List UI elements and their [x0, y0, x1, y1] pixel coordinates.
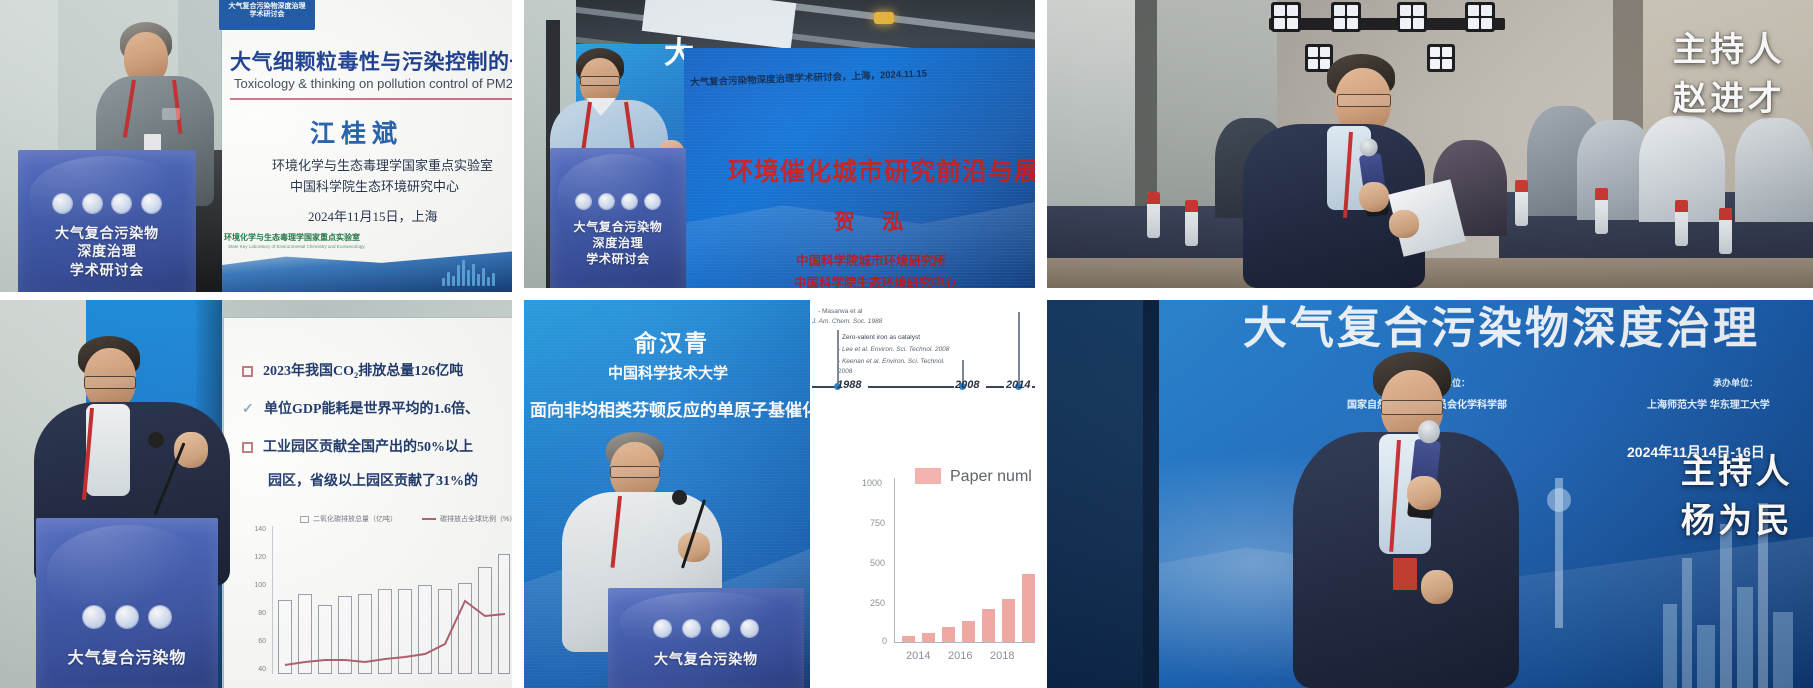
slide-affiliation-1: 环境化学与生态毒理学国家重点实验室: [272, 155, 493, 174]
projection-slide-1: 大气复合污染物深度治理 学术研讨会 大气细颗粒毒性与污染控制的一些思考 Toxi…: [222, 0, 512, 292]
emblem-icon: [83, 194, 102, 213]
chart-x-axis: [894, 642, 1035, 643]
water-bottle: [1147, 192, 1160, 238]
hand-holding-mic: [1359, 182, 1389, 212]
chart-plot-area: [896, 478, 1035, 642]
bottle-cap: [1595, 188, 1608, 200]
projection-slide-4: 2023年我国CO₂排放总量126亿吨 ✓单位GDP能耗是世界平均的1.6倍、 …: [224, 318, 512, 688]
emblem-icon: [142, 194, 161, 213]
chart-legend-bar: 二氧化碳排放总量（亿吨）: [300, 514, 397, 524]
slide-footer-cn: 环境化学与生态毒理学国家重点实验室: [224, 232, 360, 243]
chart-y-axis: [894, 478, 895, 642]
slide-affiliation-2: 中国科学院生态环境研究中心: [290, 176, 459, 195]
emblem-icon: [645, 194, 660, 209]
timeline-axis-2: [868, 386, 954, 388]
timeline-ref-2-line-3: 2008: [838, 368, 852, 375]
slide-footer-en: State Key Laboratory of Environmental Ch…: [228, 244, 365, 249]
chart-bar: [942, 627, 955, 642]
podium-line-1: 大气复合污染物: [36, 648, 218, 669]
caption-line-2: 赵进才: [1673, 75, 1785, 124]
emblem-icon: [83, 606, 105, 628]
x-tick-2018: 2018: [990, 650, 1014, 662]
chart-bar: [902, 636, 915, 642]
caption-line-1: 主持人: [1681, 448, 1793, 497]
glasses-icon: [1381, 400, 1443, 415]
podium-emblems: [550, 194, 686, 209]
emblem-icon: [654, 620, 671, 637]
timeline-axis-4: [1032, 386, 1035, 388]
podium-text: 大气复合污染物: [36, 648, 218, 669]
slide-title-cn: 环境催化城市研究前沿与展望: [728, 152, 1035, 188]
backdrop-host: 上海师范大学 华东理工大学: [1647, 396, 1770, 411]
caption-line-2: 杨为民: [1681, 497, 1793, 546]
photo-tile-3: 主持人 赵进才: [1047, 0, 1813, 288]
timeline-ref-2-line-1: - Lee et al. Environ. Sci. Technol. 2008: [838, 346, 949, 353]
slide-bullet-2: ✓单位GDP能耗是世界平均的1.6倍、: [242, 398, 479, 418]
chart-bar: [982, 609, 995, 642]
water-bottle: [1515, 180, 1528, 226]
legend-swatch-bar: [300, 516, 309, 523]
y-tick-250: 250: [870, 598, 885, 608]
slide-title-cn: 面向非均相类芬顿反应的单原子基催化剂: [530, 396, 810, 421]
bullet-text: 工业园区贡献全国产出的50%以上: [263, 440, 473, 455]
legend-label-line: 碳排放占全球比例（%）: [440, 516, 512, 523]
timeline-year-1988: 1988: [837, 379, 861, 391]
bullet-text: 单位GDP能耗是世界平均的1.6倍、: [264, 402, 479, 417]
slide-bullet-1: 2023年我国CO₂排放总量126亿吨: [242, 360, 463, 380]
microphone-head-icon: [672, 490, 687, 505]
photo-tile-2: 大 大气复合污染物深度治理学术研讨会，上海，2024.11.15 环境催化城市研…: [524, 0, 1035, 288]
y-tick-500: 500: [870, 558, 885, 568]
podium-text: 大气复合污染物: [608, 650, 804, 668]
photo-tile-7: 大气复合污染物深度治理 主办单位： 国家自然科学基金委员会化学科学部 承办单位：…: [1047, 300, 1813, 688]
y-tick: 40: [246, 666, 266, 673]
slide-speaker-name: 俞汉青: [634, 324, 709, 358]
timeline-axis-3: [986, 386, 1004, 388]
glasses-icon: [1337, 94, 1391, 107]
photo-tile-4: 2023年我国CO₂排放总量126亿吨 ✓单位GDP能耗是世界平均的1.6倍、 …: [0, 300, 512, 688]
podium-line-2: 深度治理: [550, 236, 686, 252]
glasses-icon: [580, 76, 620, 86]
ceiling-spotlight: [874, 12, 894, 24]
slide-bullet-3: 工业园区贡献全国产出的50%以上: [242, 436, 473, 456]
timeline-stem: [1018, 312, 1020, 384]
slide-affiliation-1: 中国科学院城市环境研究所: [796, 250, 946, 269]
x-tick-2016: 2016: [948, 650, 972, 662]
y-tick: 120: [246, 554, 266, 561]
hand-holding-mic: [1407, 476, 1441, 510]
podium-4: 大气复合污染物: [36, 518, 218, 688]
chart-line-series: [274, 526, 510, 674]
water-bottle: [1595, 188, 1608, 234]
bottle-cap: [1185, 200, 1198, 212]
y-tick: 60: [246, 638, 266, 645]
y-tick-1000: 1000: [862, 478, 882, 488]
chart-bar: [1022, 574, 1035, 642]
podium-line-1: 大气复合污染物: [18, 224, 196, 242]
glasses-icon: [84, 376, 136, 389]
lower-hand: [1421, 570, 1453, 604]
chart-plot-area: [274, 526, 510, 674]
emblem-icon: [683, 620, 700, 637]
podium-5: 大气复合污染物: [608, 588, 804, 688]
slide-title-en: Toxicology & thinking on pollution contr…: [234, 76, 512, 91]
emblem-icon: [112, 194, 131, 213]
chart-bar: [1002, 599, 1015, 642]
emblem-icon: [622, 194, 637, 209]
emblem-icon: [149, 606, 171, 628]
bottle-cap: [1719, 208, 1732, 220]
slide-bullet-4: 园区，省级以上园区贡献了31%的: [268, 470, 478, 490]
y-tick-750: 750: [870, 518, 885, 528]
timeline-ref-1-line-1: - Masarwa et al: [818, 308, 862, 315]
y-tick: 140: [246, 526, 266, 533]
y-tick-0: 0: [882, 636, 887, 646]
photo-caption-7: 主持人 杨为民: [1681, 448, 1793, 547]
caption-line-1: 主持人: [1673, 26, 1785, 75]
stage-light: [1465, 2, 1495, 32]
water-bottle: [1675, 200, 1688, 246]
glasses-icon: [610, 466, 660, 478]
podium-1: 大气复合污染物 深度治理 学术研讨会: [18, 150, 196, 292]
stage-light: [1331, 2, 1361, 32]
podium-line-3: 学术研讨会: [550, 252, 686, 268]
emblem-icon: [712, 620, 729, 637]
emblem-icon: [599, 194, 614, 209]
slide-header: 大气复合污染物深度治理学术研讨会，上海，2024.11.15: [690, 65, 927, 88]
water-bottle: [1719, 208, 1732, 254]
podium-line-1: 大气复合污染物: [608, 650, 804, 668]
slide-banner-line-1: 大气复合污染物深度治理: [219, 0, 315, 11]
timeline-stem: [837, 330, 839, 384]
tower-sphere-icon: [1547, 488, 1571, 512]
chart-bar: [962, 621, 975, 642]
stage-light: [1397, 2, 1427, 32]
slide-affiliation-2: 中国科学院生态环境研究中心: [794, 272, 957, 288]
slide-divider: [230, 98, 512, 100]
emblem-icon: [53, 194, 72, 213]
x-tick-2014: 2014: [906, 650, 930, 662]
audience-person: [1735, 118, 1813, 222]
slide-banner-line-2: 学术研讨会: [219, 11, 315, 19]
left-wall-strip: [1143, 300, 1159, 688]
photo-tile-1: 大气复合污染物深度治理 学术研讨会 大气细颗粒毒性与污染控制的一些思考 Toxi…: [0, 0, 512, 292]
chart-legend-line: 碳排放占全球比例（%）: [422, 514, 512, 524]
timeline-ref-1-line-2: J. Am. Chem. Soc. 1988: [812, 318, 882, 325]
slide-banner: 大气复合污染物深度治理 学术研讨会: [219, 0, 315, 30]
co2-emission-chart: 二氧化碳排放总量（亿吨） 碳排放占全球比例（%） 140 120 100 80 …: [246, 514, 510, 684]
timeline-ref-2-line-2: - Keenan et al. Environ. Sci. Technol.: [838, 358, 945, 365]
timeline-axis-1: [812, 386, 836, 388]
photo-tile-6: - Masarwa et al J. Am. Chem. Soc. 1988 Z…: [810, 300, 1035, 688]
photo-tile-5: 俞汉青 中国科学技术大学 面向非均相类芬顿反应的单原子基催化剂 大气复合污染物: [524, 300, 810, 688]
slide-speaker-name: 贺 泓: [834, 206, 906, 236]
paper-number-chart: Paper numl 1000 750 500 250 0 2014 2016 …: [810, 460, 1035, 670]
polo-logo: [162, 108, 180, 120]
stage-light-rig: [1269, 18, 1505, 30]
podium-2: 大气复合污染物 深度治理 学术研讨会: [550, 148, 686, 288]
photo-caption-3: 主持人 赵进才: [1673, 26, 1785, 125]
slide-speaker-name: 江桂斌: [310, 114, 403, 150]
slide-title-cn: 大气细颗粒毒性与污染控制的一些思考: [230, 46, 512, 76]
emblem-icon: [116, 606, 138, 628]
bottle-cap: [1147, 192, 1160, 204]
chairman-person-2: [1293, 352, 1523, 688]
bullet-text: 2023年我国CO₂排放总量126亿吨: [263, 364, 463, 379]
legend-label-bar: 二氧化碳排放总量（亿吨）: [313, 516, 397, 523]
stage-light: [1271, 2, 1301, 32]
photo-collage: 大气复合污染物深度治理 学术研讨会 大气细颗粒毒性与污染控制的一些思考 Toxi…: [0, 0, 1813, 688]
chart-bar: [922, 633, 935, 642]
name-badge: [1393, 558, 1417, 590]
y-tick: 100: [246, 582, 266, 589]
y-tick: 80: [246, 610, 266, 617]
backdrop-title: 大气复合污染物深度治理: [1243, 300, 1760, 356]
emblem-icon: [576, 194, 591, 209]
podium-emblems: [36, 606, 218, 628]
chairman-person: [1243, 54, 1433, 288]
literature-timeline: - Masarwa et al J. Am. Chem. Soc. 1988 Z…: [810, 308, 1035, 408]
chart-y-axis: [272, 526, 273, 674]
timeline-year-2014: 2014: [1006, 379, 1030, 391]
left-wall-dark: [1047, 300, 1143, 688]
slide-skyline-graphic: [442, 260, 495, 286]
projection-slide-2: 大气复合污染物深度治理学术研讨会，上海，2024.11.15 环境催化城市研究前…: [684, 48, 1035, 288]
bullet-text: 园区，省级以上园区贡献了31%的: [268, 474, 478, 489]
bottle-cap: [1675, 200, 1688, 212]
legend-swatch-line: [422, 518, 436, 520]
hand-holding-paper: [1389, 210, 1419, 238]
podium-emblems: [18, 194, 196, 213]
slide-date-place: 2024年11月15日，上海: [308, 206, 438, 225]
backdrop-host-label: 承办单位：: [1713, 376, 1758, 389]
podium-emblems: [608, 620, 804, 637]
bottle-cap: [1515, 180, 1528, 192]
podium-text: 大气复合污染物 深度治理 学术研讨会: [18, 224, 196, 279]
bullet-square-icon: [242, 442, 253, 453]
microphone-head-icon: [148, 432, 164, 448]
podium-line-2: 深度治理: [18, 242, 196, 260]
timeline-year-2008: 2008: [955, 379, 979, 391]
check-icon: ✓: [242, 401, 255, 418]
podium-line-1: 大气复合污染物: [550, 220, 686, 236]
water-bottle: [1185, 200, 1198, 246]
bullet-square-icon: [242, 366, 253, 377]
podium-line-3: 学术研讨会: [18, 261, 196, 279]
podium-text: 大气复合污染物 深度治理 学术研讨会: [550, 220, 686, 267]
timeline-ref-2-title: Zero-valent iron as catalyst: [842, 334, 920, 341]
emblem-icon: [741, 620, 758, 637]
slide-affiliation: 中国科学技术大学: [608, 362, 728, 383]
